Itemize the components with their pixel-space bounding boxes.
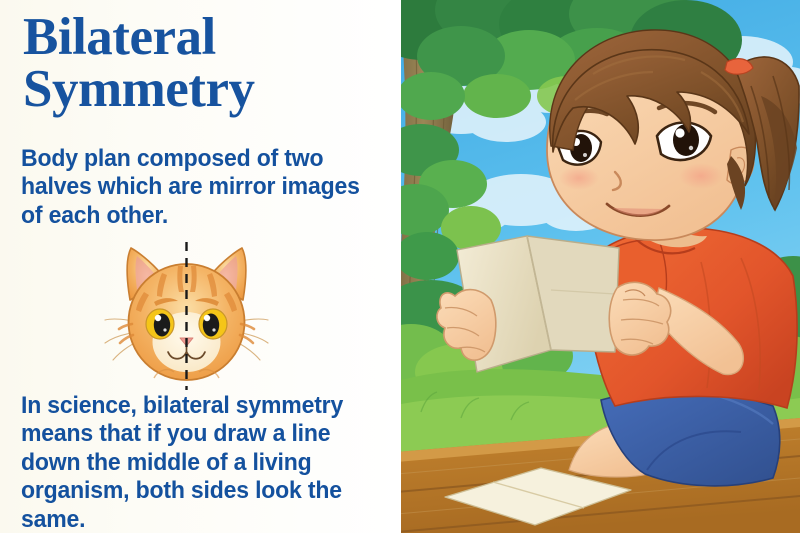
- definition-paragraph: Body plan composed of two halves which a…: [21, 145, 371, 230]
- bilateral-symmetry-slide: Bilateral Symmetry Body plan composed of…: [0, 0, 800, 533]
- page-title: Bilateral Symmetry: [23, 12, 383, 116]
- explanation-paragraph: In science, bilateral symmetry means tha…: [21, 392, 371, 533]
- cat-symmetry-illustration: [104, 240, 269, 392]
- blush-left: [559, 166, 599, 190]
- title-line-2: Symmetry: [23, 64, 383, 116]
- illustration-panel: [401, 0, 800, 533]
- text-panel: Bilateral Symmetry Body plan composed of…: [0, 0, 399, 533]
- blush-right: [679, 163, 723, 189]
- title-line-1: Bilateral: [23, 12, 383, 64]
